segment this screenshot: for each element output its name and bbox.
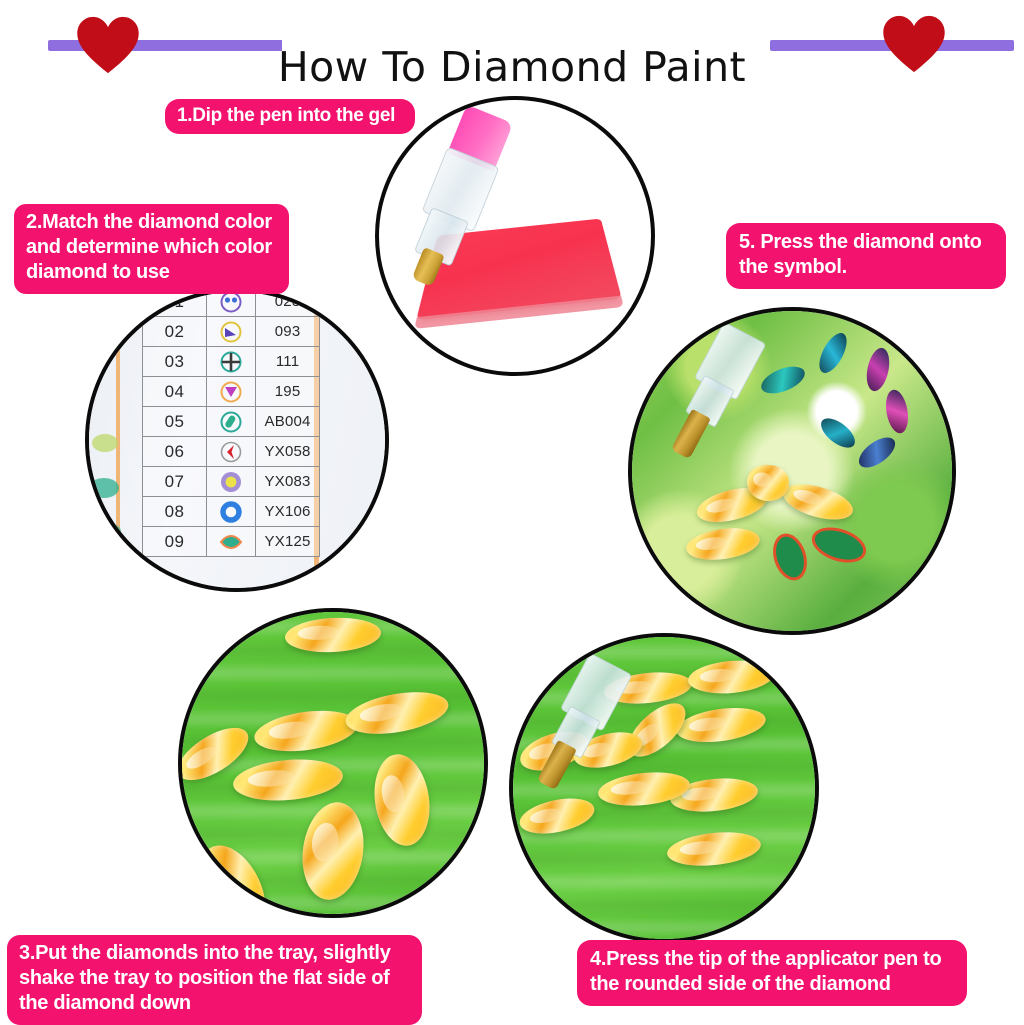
step-2-photo: 01 028 02 093 03 xyxy=(85,288,389,592)
yellow-drill xyxy=(369,751,435,850)
step-1-label: 1.Dip the pen into the gel xyxy=(165,99,415,134)
yellow-drill xyxy=(674,703,768,747)
row-code: YX106 xyxy=(256,497,320,527)
symbol-legend-body: 01 028 02 093 03 xyxy=(143,288,320,557)
yellow-drill xyxy=(343,685,452,740)
table-row: 05 AB004 xyxy=(143,407,320,437)
row-symbol-leaf-marquise-icon xyxy=(206,527,255,557)
yellow-drill xyxy=(252,705,360,757)
row-code: 111 xyxy=(256,347,320,377)
step-5-label: 5. Press the diamond onto the symbol. xyxy=(726,223,1006,289)
infographic-canvas: How To Diamond Paint 1.Dip the pen into … xyxy=(0,0,1024,1024)
table-row: 02 093 xyxy=(143,317,320,347)
green-drill-tray xyxy=(513,637,815,939)
step-5-photo xyxy=(628,307,956,635)
row-code: 195 xyxy=(256,377,320,407)
row-symbol-left-chevron-icon xyxy=(206,437,255,467)
row-number: 06 xyxy=(143,437,207,467)
symbol-chart-scene: 01 028 02 093 03 xyxy=(89,292,385,588)
row-number: 02 xyxy=(143,317,207,347)
green-drill-tray xyxy=(182,612,484,914)
row-code: YX083 xyxy=(256,467,320,497)
row-symbol-magenta-triangle-icon xyxy=(206,377,255,407)
table-row: 07 YX083 xyxy=(143,467,320,497)
canvas-print-blob xyxy=(95,523,121,539)
yellow-drill xyxy=(687,657,775,696)
yellow-drill xyxy=(284,616,382,655)
row-symbol-filled-triangle-icon xyxy=(206,317,255,347)
canvas-print-blob xyxy=(92,434,118,452)
step-3-label: 3.Put the diamonds into the tray, slight… xyxy=(7,935,422,1025)
step-1-photo xyxy=(375,96,655,376)
row-number: 05 xyxy=(143,407,207,437)
pen-dipping-scene xyxy=(379,100,651,372)
row-number: 07 xyxy=(143,467,207,497)
row-code: AB004 xyxy=(256,407,320,437)
row-symbol-plus-cross-icon xyxy=(206,347,255,377)
pen-tip xyxy=(671,409,711,459)
row-number: 09 xyxy=(143,527,207,557)
yellow-drill xyxy=(232,755,345,804)
canvas-print-blob xyxy=(89,478,119,498)
yellow-drill xyxy=(296,799,369,904)
row-symbol-diagonal-bean-icon xyxy=(206,407,255,437)
row-code: YX125 xyxy=(256,527,320,557)
symbol-legend-table: 01 028 02 093 03 xyxy=(142,288,320,557)
table-row: 08 YX106 xyxy=(143,497,320,527)
row-symbol-dot-in-ring-icon xyxy=(206,467,255,497)
yellow-drill xyxy=(188,834,279,918)
table-row: 06 YX058 xyxy=(143,437,320,467)
row-number: 03 xyxy=(143,347,207,377)
step-3-photo xyxy=(178,608,488,918)
row-code: 093 xyxy=(256,317,320,347)
row-number: 04 xyxy=(143,377,207,407)
table-row: 03 111 xyxy=(143,347,320,377)
printed-canvas-artwork xyxy=(628,307,956,635)
step-4-label: 4.Press the tip of the applicator pen to… xyxy=(577,940,967,1006)
table-row: 04 195 xyxy=(143,377,320,407)
canvas-print-blob xyxy=(107,552,129,566)
row-symbol-thick-ring-icon xyxy=(206,497,255,527)
yellow-drill xyxy=(666,828,763,870)
pen-tip xyxy=(537,740,577,790)
page-title: How To Diamond Paint xyxy=(0,44,1024,91)
step-4-photo xyxy=(509,633,819,943)
table-row: 09 YX125 xyxy=(143,527,320,557)
step-2-label: 2.Match the diamond color and determine … xyxy=(14,204,289,294)
placing-drill-scene xyxy=(632,311,952,631)
row-number: 08 xyxy=(143,497,207,527)
row-code: YX058 xyxy=(256,437,320,467)
